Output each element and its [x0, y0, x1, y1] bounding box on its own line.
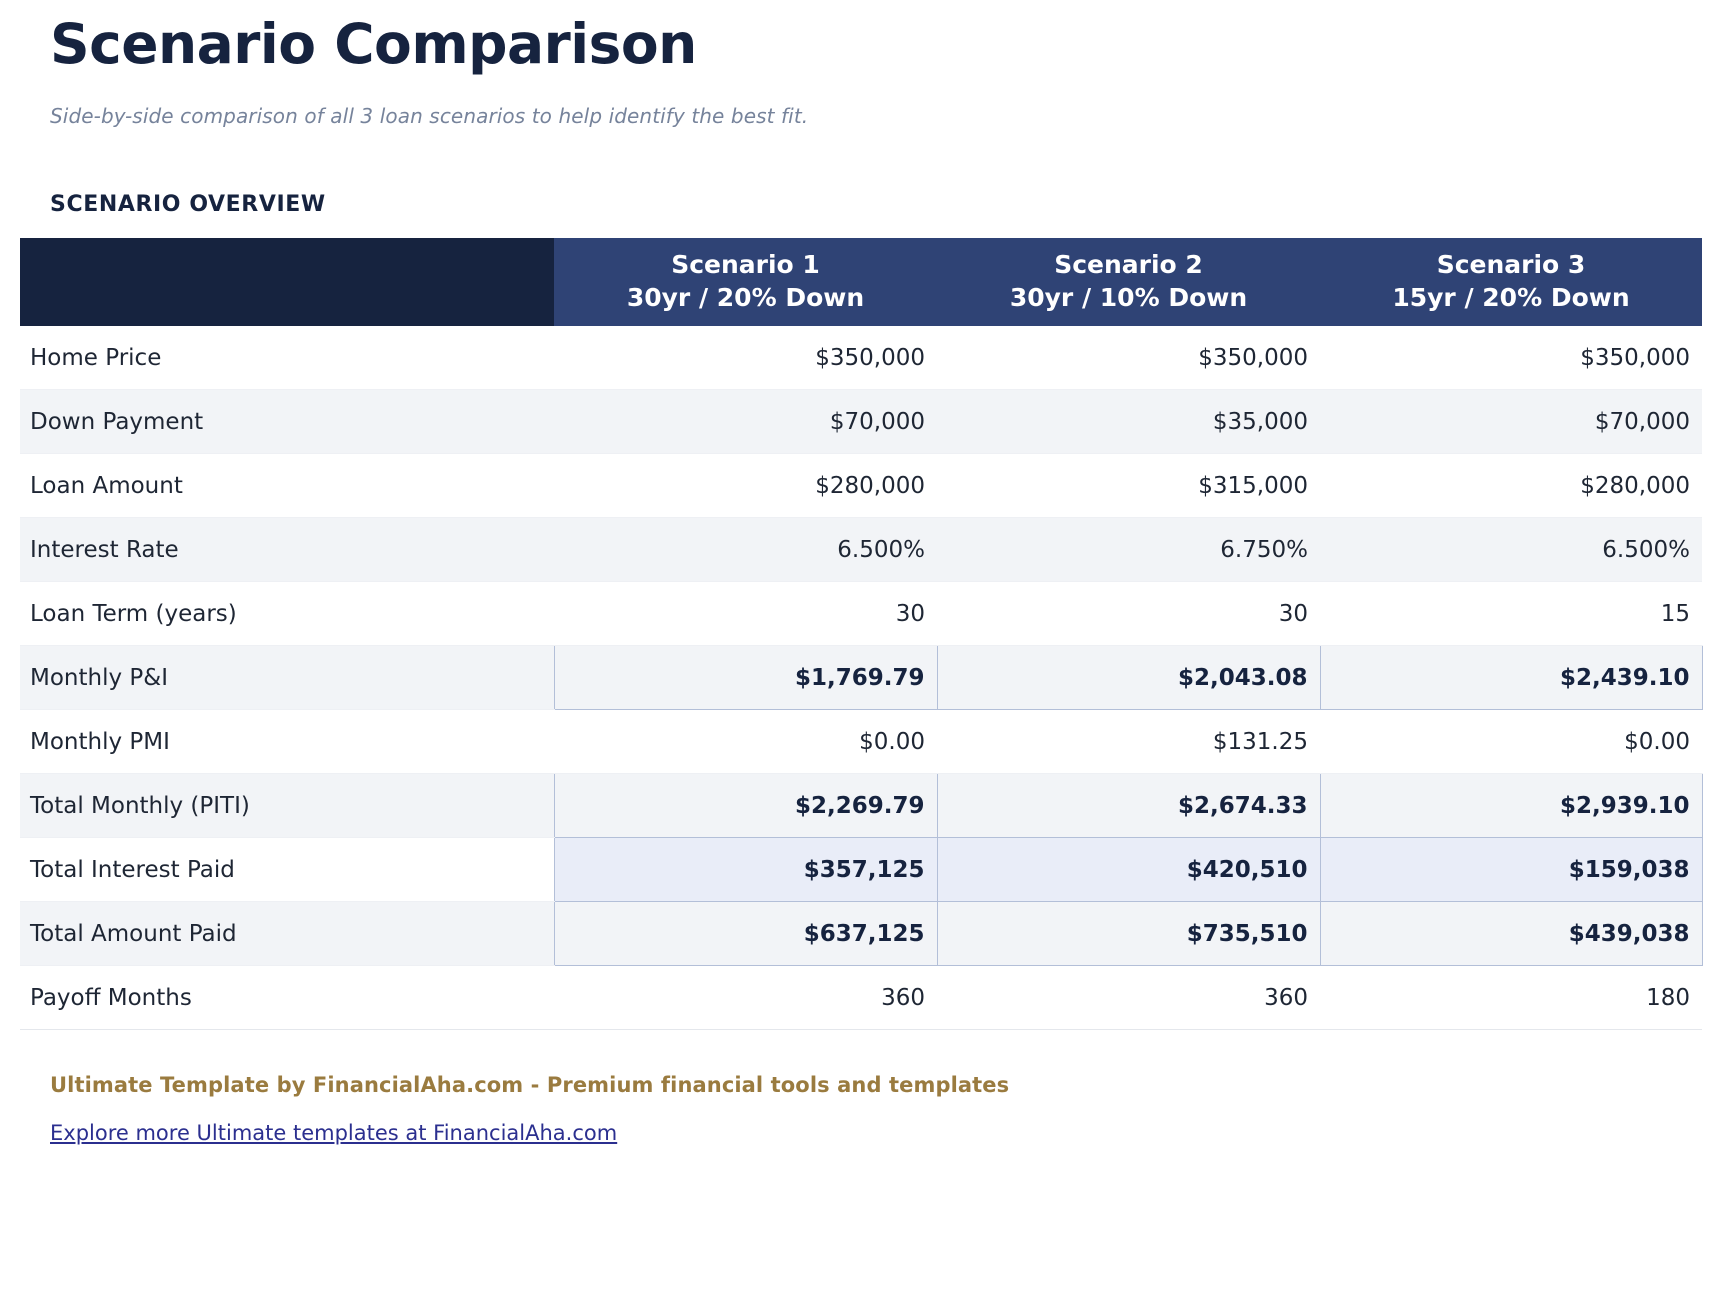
row-value-scenario-2: $315,000 — [937, 454, 1320, 518]
row-value-scenario-3: $159,038 — [1320, 838, 1702, 902]
table-row: Loan Term (years)303015 — [20, 582, 1702, 646]
row-value-scenario-1: 360 — [554, 966, 937, 1030]
row-label: Monthly PMI — [20, 710, 554, 774]
row-value-scenario-1: $1,769.79 — [554, 646, 937, 710]
page-root: Scenario Comparison Side-by-side compari… — [0, 0, 1722, 1295]
table-header-scenario-3: Scenario 3 15yr / 20% Down — [1320, 238, 1702, 327]
row-value-scenario-3: $70,000 — [1320, 390, 1702, 454]
row-value-scenario-1: $350,000 — [554, 326, 937, 390]
row-value-scenario-1: $0.00 — [554, 710, 937, 774]
table-row: Down Payment$70,000$35,000$70,000 — [20, 390, 1702, 454]
row-value-scenario-2: $420,510 — [937, 838, 1320, 902]
row-value-scenario-1: 6.500% — [554, 518, 937, 582]
row-value-scenario-1: $2,269.79 — [554, 774, 937, 838]
row-label: Loan Term (years) — [20, 582, 554, 646]
table-row: Total Monthly (PITI)$2,269.79$2,674.33$2… — [20, 774, 1702, 838]
row-label: Total Monthly (PITI) — [20, 774, 554, 838]
row-value-scenario-3: $280,000 — [1320, 454, 1702, 518]
page-subtitle: Side-by-side comparison of all 3 loan sc… — [20, 76, 1702, 128]
page-title: Scenario Comparison — [20, 0, 1702, 76]
row-value-scenario-3: $2,439.10 — [1320, 646, 1702, 710]
row-value-scenario-2: $2,043.08 — [937, 646, 1320, 710]
row-value-scenario-3: $350,000 — [1320, 326, 1702, 390]
row-value-scenario-2: $131.25 — [937, 710, 1320, 774]
row-label: Home Price — [20, 326, 554, 390]
row-label: Total Interest Paid — [20, 838, 554, 902]
table-row: Monthly P&I$1,769.79$2,043.08$2,439.10 — [20, 646, 1702, 710]
row-label: Down Payment — [20, 390, 554, 454]
table-row: Home Price$350,000$350,000$350,000 — [20, 326, 1702, 390]
scenario-3-name: Scenario 3 — [1437, 250, 1586, 279]
row-value-scenario-2: $35,000 — [937, 390, 1320, 454]
row-label: Monthly P&I — [20, 646, 554, 710]
row-value-scenario-1: $70,000 — [554, 390, 937, 454]
row-label: Total Amount Paid — [20, 902, 554, 966]
scenario-1-name: Scenario 1 — [671, 250, 820, 279]
scenario-comparison-table-wrapper: Scenario 1 30yr / 20% Down Scenario 2 30… — [20, 238, 1702, 1031]
row-value-scenario-2: 6.750% — [937, 518, 1320, 582]
row-value-scenario-2: 30 — [937, 582, 1320, 646]
row-label: Payoff Months — [20, 966, 554, 1030]
table-header: Scenario 1 30yr / 20% Down Scenario 2 30… — [20, 238, 1702, 327]
table-header-row: Scenario 1 30yr / 20% Down Scenario 2 30… — [20, 238, 1702, 327]
scenario-1-subtitle: 30yr / 20% Down — [562, 281, 929, 314]
table-row: Payoff Months360360180 — [20, 966, 1702, 1030]
row-value-scenario-2: $735,510 — [937, 902, 1320, 966]
footer-explore-link[interactable]: Explore more Ultimate templates at Finan… — [50, 1121, 617, 1145]
row-value-scenario-3: 180 — [1320, 966, 1702, 1030]
scenario-2-name: Scenario 2 — [1054, 250, 1203, 279]
row-value-scenario-3: $0.00 — [1320, 710, 1702, 774]
table-header-scenario-2: Scenario 2 30yr / 10% Down — [937, 238, 1320, 327]
table-row: Total Amount Paid$637,125$735,510$439,03… — [20, 902, 1702, 966]
row-value-scenario-2: $2,674.33 — [937, 774, 1320, 838]
row-label: Loan Amount — [20, 454, 554, 518]
table-header-blank-cell — [20, 238, 554, 327]
section-heading-scenario-overview: SCENARIO OVERVIEW — [20, 128, 1702, 217]
row-value-scenario-3: $439,038 — [1320, 902, 1702, 966]
row-value-scenario-2: $350,000 — [937, 326, 1320, 390]
scenario-comparison-table: Scenario 1 30yr / 20% Down Scenario 2 30… — [20, 238, 1703, 1031]
footer-brand-text: Ultimate Template by FinancialAha.com - … — [50, 1073, 1702, 1097]
row-value-scenario-3: 6.500% — [1320, 518, 1702, 582]
scenario-3-subtitle: 15yr / 20% Down — [1328, 281, 1694, 314]
row-value-scenario-3: $2,939.10 — [1320, 774, 1702, 838]
table-row: Total Interest Paid$357,125$420,510$159,… — [20, 838, 1702, 902]
row-value-scenario-3: 15 — [1320, 582, 1702, 646]
row-value-scenario-1: $637,125 — [554, 902, 937, 966]
footer: Ultimate Template by FinancialAha.com - … — [20, 1030, 1702, 1145]
scenario-2-subtitle: 30yr / 10% Down — [945, 281, 1312, 314]
table-body: Home Price$350,000$350,000$350,000Down P… — [20, 326, 1702, 1030]
row-value-scenario-2: 360 — [937, 966, 1320, 1030]
table-row: Interest Rate6.500%6.750%6.500% — [20, 518, 1702, 582]
row-value-scenario-1: 30 — [554, 582, 937, 646]
table-header-scenario-1: Scenario 1 30yr / 20% Down — [554, 238, 937, 327]
table-row: Loan Amount$280,000$315,000$280,000 — [20, 454, 1702, 518]
row-value-scenario-1: $280,000 — [554, 454, 937, 518]
row-value-scenario-1: $357,125 — [554, 838, 937, 902]
table-row: Monthly PMI$0.00$131.25$0.00 — [20, 710, 1702, 774]
row-label: Interest Rate — [20, 518, 554, 582]
